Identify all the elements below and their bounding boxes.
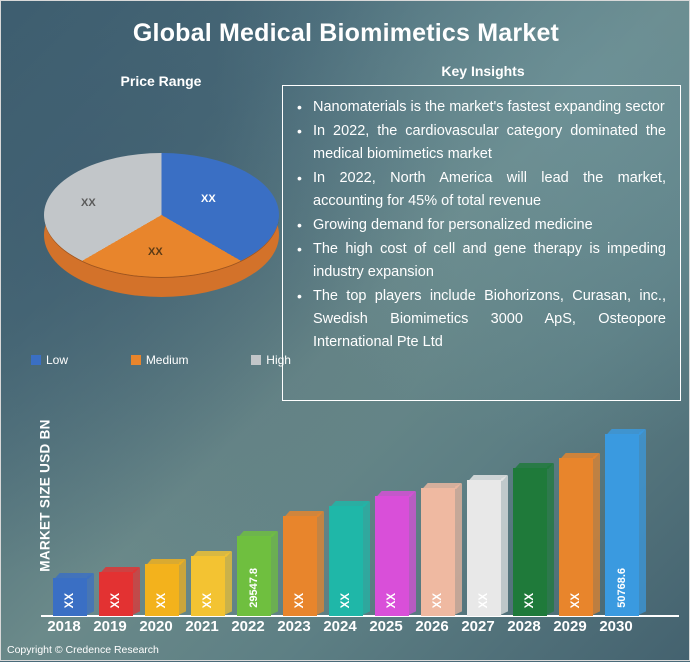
bar-2018: XX bbox=[53, 578, 87, 616]
legend-item-medium: Medium bbox=[131, 353, 189, 367]
x-label-2018: 2018 bbox=[41, 618, 87, 635]
y-axis-label: MARKET SIZE USD BN bbox=[38, 406, 53, 586]
pie-slice-label-medium: XX bbox=[148, 246, 163, 258]
x-label-2025: 2025 bbox=[363, 618, 409, 635]
bar-side bbox=[271, 531, 278, 614]
x-label-2027: 2027 bbox=[455, 618, 501, 635]
bar-value-label: XX bbox=[99, 593, 133, 608]
legend-label-low: Low bbox=[46, 353, 68, 367]
bar-side bbox=[409, 491, 416, 614]
x-label-2023: 2023 bbox=[271, 618, 317, 635]
price-range-pie-chart: XX XX XX bbox=[26, 131, 296, 316]
bar-side bbox=[87, 573, 94, 614]
bar-value-label: XX bbox=[467, 593, 501, 608]
list-item: •In 2022, the cardiovascular category do… bbox=[313, 120, 666, 166]
bar-top bbox=[468, 475, 507, 481]
bar-top bbox=[606, 429, 645, 435]
list-item: •Nanomaterials is the market's fastest e… bbox=[313, 96, 666, 119]
list-item-text: Growing demand for personalized medicine bbox=[313, 217, 593, 233]
bar-value-label: XX bbox=[145, 593, 179, 608]
bar-value-label: 29547.8 bbox=[237, 568, 271, 608]
bar-value-label: XX bbox=[421, 593, 455, 608]
legend-swatch-high bbox=[251, 355, 261, 365]
bar-side bbox=[547, 463, 554, 614]
pie-surface bbox=[44, 153, 279, 277]
bar-2025: XX bbox=[375, 496, 409, 616]
bar-top bbox=[422, 483, 461, 489]
market-size-bar-chart: MARKET SIZE USD BN XXXXXXXX29547.8XXXXXX… bbox=[1, 406, 690, 662]
pie-slice-label-low: XX bbox=[201, 193, 216, 205]
legend-item-low: Low bbox=[31, 353, 68, 367]
list-item-text: In 2022, the cardiovascular category dom… bbox=[313, 123, 666, 162]
list-item-text: In 2022, North America will lead the mar… bbox=[313, 170, 666, 209]
bullet-icon: • bbox=[297, 120, 302, 143]
bar-value-label: XX bbox=[191, 593, 225, 608]
bar-2019: XX bbox=[99, 572, 133, 616]
bar-side bbox=[593, 453, 600, 614]
bar-2029: XX bbox=[559, 458, 593, 616]
bar-series: XXXXXXXX29547.8XXXXXXXXXXXXXX50768.6 bbox=[53, 416, 673, 616]
list-item-text: Nanomaterials is the market's fastest ex… bbox=[313, 99, 665, 115]
legend-item-high: High bbox=[251, 353, 291, 367]
bullet-icon: • bbox=[297, 167, 302, 190]
bullet-icon: • bbox=[297, 285, 302, 308]
bar-side bbox=[317, 511, 324, 614]
bar-top bbox=[330, 501, 369, 507]
pie-legend: Low Medium High bbox=[31, 353, 291, 367]
bullet-icon: • bbox=[297, 96, 302, 119]
bar-value-label: XX bbox=[513, 593, 547, 608]
bar-side bbox=[455, 483, 462, 614]
x-label-2019: 2019 bbox=[87, 618, 133, 635]
list-item: •The high cost of cell and gene therapy … bbox=[313, 238, 666, 284]
bar-side bbox=[501, 475, 508, 614]
copyright-text: Copyright © Credence Research bbox=[7, 644, 159, 656]
key-insights-box: •Nanomaterials is the market's fastest e… bbox=[282, 85, 681, 401]
bar-top bbox=[100, 567, 139, 573]
bar-value-label: XX bbox=[375, 593, 409, 608]
list-item-text: The high cost of cell and gene therapy i… bbox=[313, 241, 666, 280]
bar-2027: XX bbox=[467, 480, 501, 616]
key-insights-list: •Nanomaterials is the market's fastest e… bbox=[283, 86, 680, 354]
bar-top bbox=[238, 531, 277, 537]
x-label-2029: 2029 bbox=[547, 618, 593, 635]
infographic-root: Global Medical Biomimetics Market Price … bbox=[0, 0, 690, 661]
bar-top bbox=[376, 491, 415, 497]
key-insights-heading: Key Insights bbox=[283, 63, 683, 79]
list-item: • Growing demand for personalized medici… bbox=[313, 214, 666, 237]
x-axis-tick-labels: 2018201920202021202220232024202520262027… bbox=[41, 618, 681, 640]
x-label-2030: 2030 bbox=[593, 618, 639, 635]
x-label-2021: 2021 bbox=[179, 618, 225, 635]
bar-2030: 50768.6 bbox=[605, 434, 639, 616]
x-label-2020: 2020 bbox=[133, 618, 179, 635]
bar-2026: XX bbox=[421, 488, 455, 616]
bar-value-label: XX bbox=[53, 593, 87, 608]
bar-top bbox=[284, 511, 323, 517]
bar-top bbox=[192, 551, 231, 557]
bar-side bbox=[225, 551, 232, 614]
bar-top bbox=[514, 463, 553, 469]
bar-top bbox=[146, 559, 185, 565]
bar-2024: XX bbox=[329, 506, 363, 616]
x-label-2026: 2026 bbox=[409, 618, 455, 635]
bar-value-label: XX bbox=[283, 593, 317, 608]
bullet-icon: • bbox=[297, 214, 302, 237]
pie-slice-label-high: XX bbox=[81, 197, 96, 209]
x-label-2022: 2022 bbox=[225, 618, 271, 635]
bar-top bbox=[54, 573, 93, 579]
bar-2022: 29547.8 bbox=[237, 536, 271, 616]
bar-2020: XX bbox=[145, 564, 179, 616]
bar-value-label: 50768.6 bbox=[605, 568, 639, 608]
bar-value-label: XX bbox=[559, 593, 593, 608]
legend-swatch-medium bbox=[131, 355, 141, 365]
list-item: •The top players include Biohorizons, Cu… bbox=[313, 285, 666, 354]
bullet-icon: • bbox=[297, 238, 302, 261]
x-label-2024: 2024 bbox=[317, 618, 363, 635]
pie-chart-heading: Price Range bbox=[86, 73, 236, 89]
legend-label-medium: Medium bbox=[146, 353, 189, 367]
bar-side bbox=[133, 567, 140, 614]
legend-swatch-low bbox=[31, 355, 41, 365]
list-item-text: The top players include Biohorizons, Cur… bbox=[313, 288, 666, 350]
page-title: Global Medical Biomimetics Market bbox=[1, 19, 690, 48]
bar-2023: XX bbox=[283, 516, 317, 616]
bar-value-label: XX bbox=[329, 593, 363, 608]
bar-side bbox=[363, 501, 370, 614]
legend-label-high: High bbox=[266, 353, 291, 367]
list-item: •In 2022, North America will lead the ma… bbox=[313, 167, 666, 213]
bar-2021: XX bbox=[191, 556, 225, 616]
bar-side bbox=[639, 429, 646, 614]
bar-top bbox=[560, 453, 599, 459]
bar-2028: XX bbox=[513, 468, 547, 616]
x-label-2028: 2028 bbox=[501, 618, 547, 635]
bar-side bbox=[179, 559, 186, 614]
